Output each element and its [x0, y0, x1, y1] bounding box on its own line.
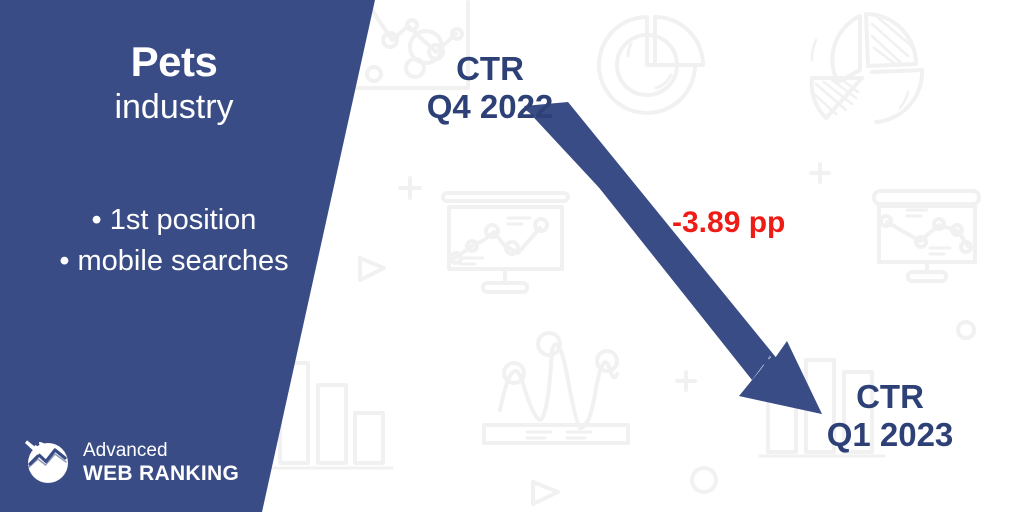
infographic-canvas: Pets industry • 1st position • mobile se… — [0, 0, 1024, 512]
annotation-layer: CTR Q4 2022 -3.89 pp CTR Q1 2023 — [0, 0, 1024, 512]
ctr-start-label: CTR Q4 2022 — [390, 50, 590, 125]
ctr-end-label-top: CTR — [790, 378, 990, 416]
ctr-end-label-bottom: Q1 2023 — [790, 416, 990, 454]
delta-value-label: -3.89 pp — [672, 206, 785, 240]
ctr-start-label-bottom: Q4 2022 — [390, 88, 590, 126]
ctr-end-label: CTR Q1 2023 — [790, 378, 990, 453]
ctr-start-label-top: CTR — [390, 50, 590, 88]
